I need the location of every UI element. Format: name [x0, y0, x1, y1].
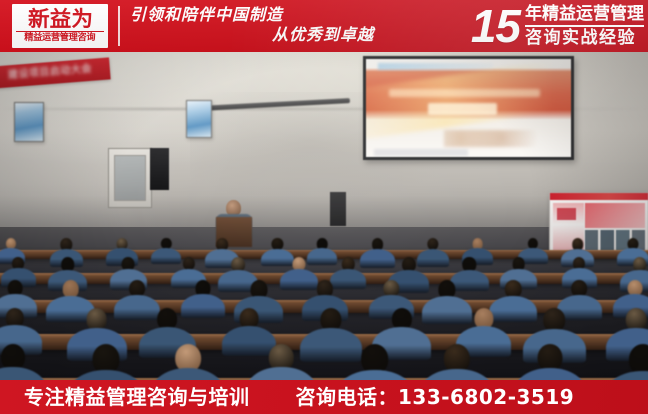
wall-poster-left-icon [14, 102, 44, 142]
audience-torso [67, 370, 145, 380]
wall-cabinet [108, 148, 152, 208]
audience-member [335, 344, 415, 380]
audience-member [67, 344, 145, 380]
audience-member [514, 344, 586, 380]
audience-member [246, 344, 317, 380]
experience-years-number: 15 [471, 3, 525, 49]
wall-poster-center-icon [186, 100, 212, 138]
slogan-line-2: 从优秀到卓越 [128, 25, 378, 45]
experience-line-1: 年精益运营管理 [525, 4, 644, 24]
projector-screen [363, 56, 574, 160]
info-board-header [550, 193, 648, 200]
header-vertical-divider [118, 6, 120, 46]
footer-phone-number: 133-6802-3519 [398, 385, 574, 409]
promo-image-frame: 新益为 精益运营管理咨询 引领和陪伴中国制造 从优秀到卓越 15 年精益运营管理… [0, 0, 648, 414]
slide-footer-band [374, 149, 468, 156]
slide-title-text [428, 103, 498, 115]
slogan-line-1: 引领和陪伴中国制造 [128, 5, 378, 25]
loudspeaker-left-icon [150, 148, 169, 190]
footer-phone: 咨询电话：133-6802-3519 [296, 380, 575, 414]
company-logo: 新益为 精益运营管理咨询 [12, 4, 108, 48]
experience-text-block: 年精益运营管理 咨询实战经验 [525, 4, 644, 49]
header-slogan: 引领和陪伴中国制造 从优秀到卓越 [128, 5, 378, 49]
experience-divider-rule [525, 25, 644, 27]
footer-slogan: 专注精益管理咨询与培训 [24, 380, 250, 414]
slide-subtitle-line [389, 89, 541, 97]
seminar-photograph: 建设项目启动大会 [0, 52, 648, 380]
desk-surface [0, 273, 648, 276]
audience-torso [0, 367, 47, 380]
audience-torso [419, 369, 495, 380]
loudspeaker-center-icon [330, 192, 346, 226]
info-board-right-panel [585, 203, 645, 228]
logo-tagline-text: 精益运营管理咨询 [24, 33, 95, 43]
logo-brand-text: 新益为 [28, 9, 93, 30]
header-banner: 新益为 精益运营管理咨询 引领和陪伴中国制造 从优秀到卓越 15 年精益运营管理… [0, 0, 648, 52]
audience-torso [151, 368, 226, 380]
slide-header-band [378, 63, 493, 70]
logo-divider-rule [16, 31, 104, 32]
audience-member [603, 344, 648, 380]
experience-badge: 15 年精益运营管理 咨询实战经验 [471, 0, 644, 52]
audience-torso [335, 370, 415, 380]
audience-member [419, 344, 495, 380]
audience-member [0, 344, 47, 380]
audience-member [151, 344, 226, 380]
slide-logo-marks [444, 130, 538, 148]
footer-bar: 专注精益管理咨询与培训 咨询电话：133-6802-3519 [0, 380, 648, 414]
footer-phone-label: 咨询电话： [296, 385, 399, 409]
audience-torso [514, 368, 586, 380]
experience-line-2: 咨询实战经验 [525, 28, 644, 48]
audience-torso [603, 371, 648, 380]
audience-torso [246, 367, 317, 380]
